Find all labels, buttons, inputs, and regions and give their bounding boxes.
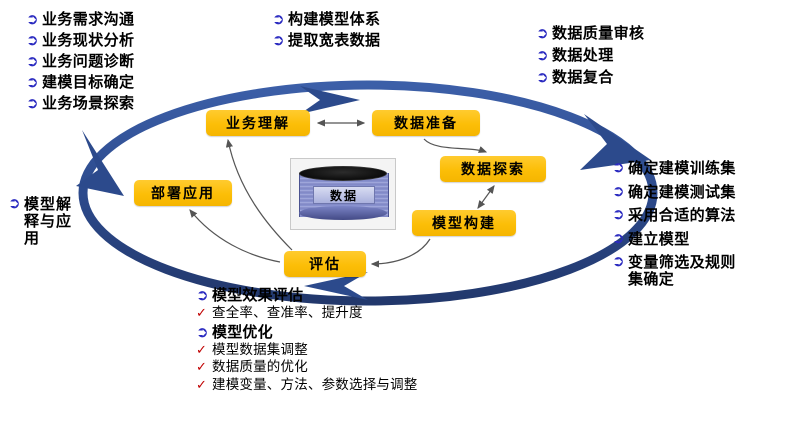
arrow-bullet-icon: ➲ — [612, 254, 628, 269]
arrow-bullet-icon: ➲ — [272, 33, 288, 48]
arrow-bullet-icon: ➲ — [196, 325, 212, 340]
arrow-bullet-icon: ➲ — [536, 48, 552, 63]
list-item: ➲ 提取宽表数据 — [272, 33, 380, 48]
list-item: ➲ 模型优化 — [196, 325, 418, 340]
arrow-bullet-icon: ➲ — [26, 96, 42, 111]
list-item: ➲ 模型解 释与应 用 — [8, 196, 128, 246]
arrow-bullet-icon: ➲ — [26, 12, 42, 27]
arrow-bullet-icon: ➲ — [26, 54, 42, 69]
list-item-label: 建模变量、方法、参数选择与调整 — [212, 379, 418, 393]
list-item: ➲ 业务问题诊断 — [26, 54, 134, 69]
list-top-center: ➲ 构建模型体系 ➲ 提取宽表数据 — [272, 12, 380, 54]
list-item-label: 建模目标确定 — [42, 75, 134, 90]
arrow-eval-to-deploy — [190, 210, 280, 262]
list-bottom: ➲ 模型效果评估 ✓ 查全率、查准率、提升度 ➲ 模型优化 ✓ 模型数据集调整 … — [196, 288, 418, 396]
box-data-exploration[interactable]: 数据探索 — [440, 156, 546, 182]
list-item: ➲ 数据复合 — [536, 70, 644, 85]
arrow-bullet-icon: ➲ — [536, 70, 552, 85]
list-item-label: 业务问题诊断 — [42, 54, 134, 69]
list-item: ✓ 模型数据集调整 — [196, 344, 418, 358]
list-item-label: 业务需求沟通 — [42, 12, 134, 27]
check-bullet-icon: ✓ — [196, 307, 212, 320]
check-bullet-icon: ✓ — [196, 344, 212, 357]
arrow-bullet-icon: ➲ — [612, 160, 628, 175]
list-item-label: 数据质量审核 — [552, 26, 644, 41]
list-item: ➲ 采用合适的算法 — [612, 207, 736, 224]
list-item-label: 确定建模训练集 — [628, 160, 736, 177]
list-item-label: 数据质量的优化 — [212, 361, 308, 375]
arrow-bullet-icon: ➲ — [26, 33, 42, 48]
list-right-middle: ➲ 确定建模训练集 ➲ 确定建模测试集 ➲ 采用合适的算法 ➲ 建立模型 ➲ 变… — [612, 160, 736, 294]
box-deployment[interactable]: 部署应用 — [134, 180, 232, 206]
box-business-understanding[interactable]: 业务理解 — [206, 110, 310, 136]
list-item: ➲ 模型效果评估 — [196, 288, 418, 303]
arrow-model-to-explore — [478, 186, 494, 208]
check-bullet-icon: ✓ — [196, 361, 212, 374]
list-item-label: 提取宽表数据 — [288, 33, 380, 48]
list-item-label: 构建模型体系 — [288, 12, 380, 27]
check-bullet-icon: ✓ — [196, 379, 212, 392]
list-item: ➲ 数据质量审核 — [536, 26, 644, 41]
list-item-label: 采用合适的算法 — [628, 207, 736, 224]
list-item-label: 数据复合 — [552, 70, 614, 85]
list-item-label: 模型效果评估 — [212, 288, 303, 303]
list-left-middle: ➲ 模型解 释与应 用 — [8, 196, 128, 251]
list-item: ➲ 确定建模测试集 — [612, 184, 736, 201]
list-item: ➲ 建模目标确定 — [26, 75, 134, 90]
list-top-left: ➲ 业务需求沟通 ➲ 业务现状分析 ➲ 业务问题诊断 ➲ 建模目标确定 ➲ 业务… — [26, 12, 134, 117]
list-item-label: 数据处理 — [552, 48, 614, 63]
arrow-bullet-icon: ➲ — [536, 26, 552, 41]
arrow-bullet-icon: ➲ — [612, 184, 628, 199]
database-top — [299, 166, 387, 181]
list-item-label: 模型数据集调整 — [212, 344, 308, 358]
list-item: ➲ 业务场景探索 — [26, 96, 134, 111]
arrow-bullet-icon: ➲ — [272, 12, 288, 27]
list-item-label: 模型优化 — [212, 325, 273, 340]
arrow-bullet-icon: ➲ — [8, 196, 24, 211]
list-item: ➲ 业务需求沟通 — [26, 12, 134, 27]
list-item: ➲ 业务现状分析 — [26, 33, 134, 48]
list-item: ➲ 构建模型体系 — [272, 12, 380, 27]
arrow-bullet-icon: ➲ — [196, 288, 212, 303]
list-item-label: 确定建模测试集 — [628, 184, 736, 201]
list-item-label: 业务场景探索 — [42, 96, 134, 111]
diagram-canvas: 数据 业务理解 数据准备 数据探索 模型构建 评估 部署应用 ➲ 业务需求沟通 … — [0, 0, 800, 432]
database-bottom — [299, 206, 387, 220]
list-item-label: 查全率、查准率、提升度 — [212, 307, 363, 321]
list-item: ✓ 查全率、查准率、提升度 — [196, 307, 418, 321]
box-model-building[interactable]: 模型构建 — [412, 210, 516, 236]
arrow-bullet-icon: ➲ — [612, 231, 628, 246]
list-item: ✓ 数据质量的优化 — [196, 361, 418, 375]
list-item-label: 模型解 释与应 用 — [24, 196, 72, 246]
list-item-label: 变量筛选及规则 集确定 — [628, 254, 736, 287]
arrow-bullet-icon: ➲ — [26, 75, 42, 90]
list-item: ➲ 确定建模训练集 — [612, 160, 736, 177]
arrow-bullet-icon: ➲ — [612, 207, 628, 222]
arrow-model-to-eval — [372, 239, 430, 264]
list-item: ➲ 建立模型 — [612, 231, 736, 248]
database-icon: 数据 — [290, 158, 396, 230]
list-item-label: 建立模型 — [628, 231, 690, 248]
list-item-label: 业务现状分析 — [42, 33, 134, 48]
box-evaluation[interactable]: 评估 — [284, 251, 366, 277]
list-item: ➲ 变量筛选及规则 集确定 — [612, 254, 736, 287]
list-item: ✓ 建模变量、方法、参数选择与调整 — [196, 379, 418, 393]
list-item: ➲ 数据处理 — [536, 48, 644, 63]
database-label: 数据 — [313, 186, 375, 204]
arrow-eval-to-biz — [228, 140, 292, 250]
arrow-prep-to-explore — [424, 139, 486, 152]
box-data-preparation[interactable]: 数据准备 — [372, 110, 480, 136]
list-top-right: ➲ 数据质量审核 ➲ 数据处理 ➲ 数据复合 — [536, 26, 644, 92]
